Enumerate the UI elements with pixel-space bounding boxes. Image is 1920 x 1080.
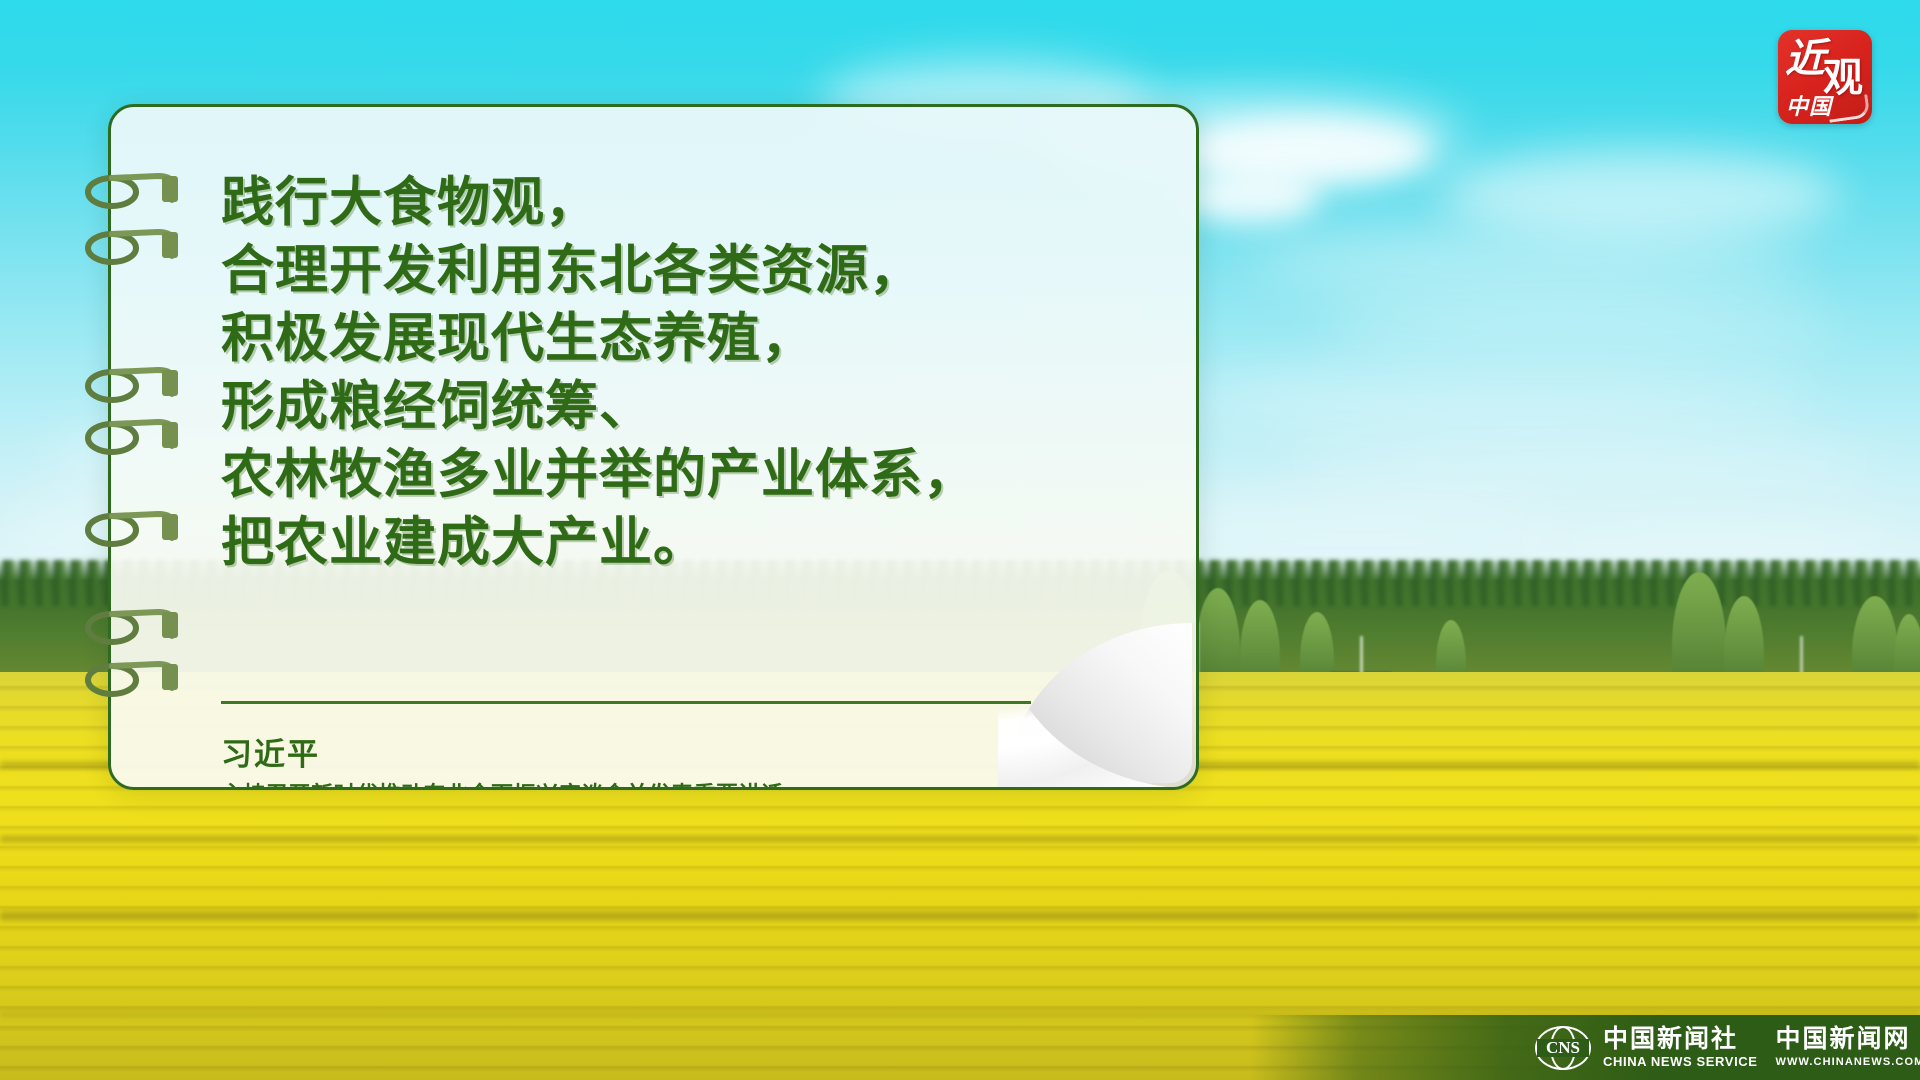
cns-acronym: CNS [1537, 1039, 1589, 1057]
agency-name-en: CHINA NEWS SERVICE [1603, 1054, 1758, 1070]
page-curl-shadow [983, 594, 1198, 789]
cloud [1500, 520, 1900, 560]
quote-line: 农林牧渔多业并举的产业体系， [221, 441, 1141, 509]
cloud [1250, 230, 1810, 294]
cloud [1180, 370, 1820, 424]
attribution-occasion: 主持召开新时代推动东北全面振兴座谈会并发表重要讲话 [221, 779, 784, 790]
quote-card: 践行大食物观， 合理开发利用东北各类资源， 积极发展现代生态养殖， 形成粮经饲统… [108, 104, 1199, 790]
quote-line: 合理开发利用东北各类资源， [221, 237, 1141, 305]
cloud [1280, 440, 1880, 486]
site-name-cn: 中国新闻网 [1776, 1026, 1920, 1054]
jinguan-zhongguo-logo[interactable]: 近 观 中国 [1778, 30, 1872, 124]
field-furrow [0, 836, 1920, 842]
page-curl-fold [1008, 623, 1192, 783]
cloud [1180, 170, 1320, 224]
agency-name-block: 中国新闻社 CHINA NEWS SERVICE [1603, 1026, 1758, 1070]
field-furrow [0, 912, 1920, 920]
agency-name-cn: 中国新闻社 [1603, 1026, 1758, 1054]
attribution-details: 主持召开新时代推动东北全面振兴座谈会并发表重要讲话 2023年9月7日 [221, 779, 784, 790]
quote-line: 积极发展现代生态养殖， [221, 305, 1141, 373]
page-curl-lip [998, 609, 1198, 789]
logo-text-china: 中国 [1786, 89, 1832, 121]
quote-line: 形成粮经饲统筹、 [221, 373, 1141, 441]
logo-char-jin: 近 [1785, 36, 1824, 82]
cloud [1320, 300, 1840, 350]
site-url: WWW.CHINANEWS.COM [1776, 1054, 1920, 1070]
logo-swish-icon [1827, 94, 1871, 122]
quote-line: 把农业建成大产业。 [221, 509, 1141, 577]
globe-icon: CNS [1535, 1026, 1591, 1070]
attribution-divider [221, 701, 1031, 704]
quote-block: 践行大食物观， 合理开发利用东北各类资源， 积极发展现代生态养殖， 形成粮经饲统… [221, 169, 1141, 577]
page-curl [998, 609, 1198, 789]
quote-line: 践行大食物观， [221, 169, 1141, 237]
cloud [1440, 150, 1840, 238]
speaker-name: 习近平 [221, 729, 320, 774]
poster-canvas: 践行大食物观， 合理开发利用东北各类资源， 积极发展现代生态养殖， 形成粮经饲统… [0, 0, 1920, 1080]
site-name-block: 中国新闻网 WWW.CHINANEWS.COM [1776, 1026, 1920, 1070]
cns-watermark: CNS 中国新闻社 CHINA NEWS SERVICE 中国新闻网 WWW.C… [1250, 1015, 1920, 1080]
